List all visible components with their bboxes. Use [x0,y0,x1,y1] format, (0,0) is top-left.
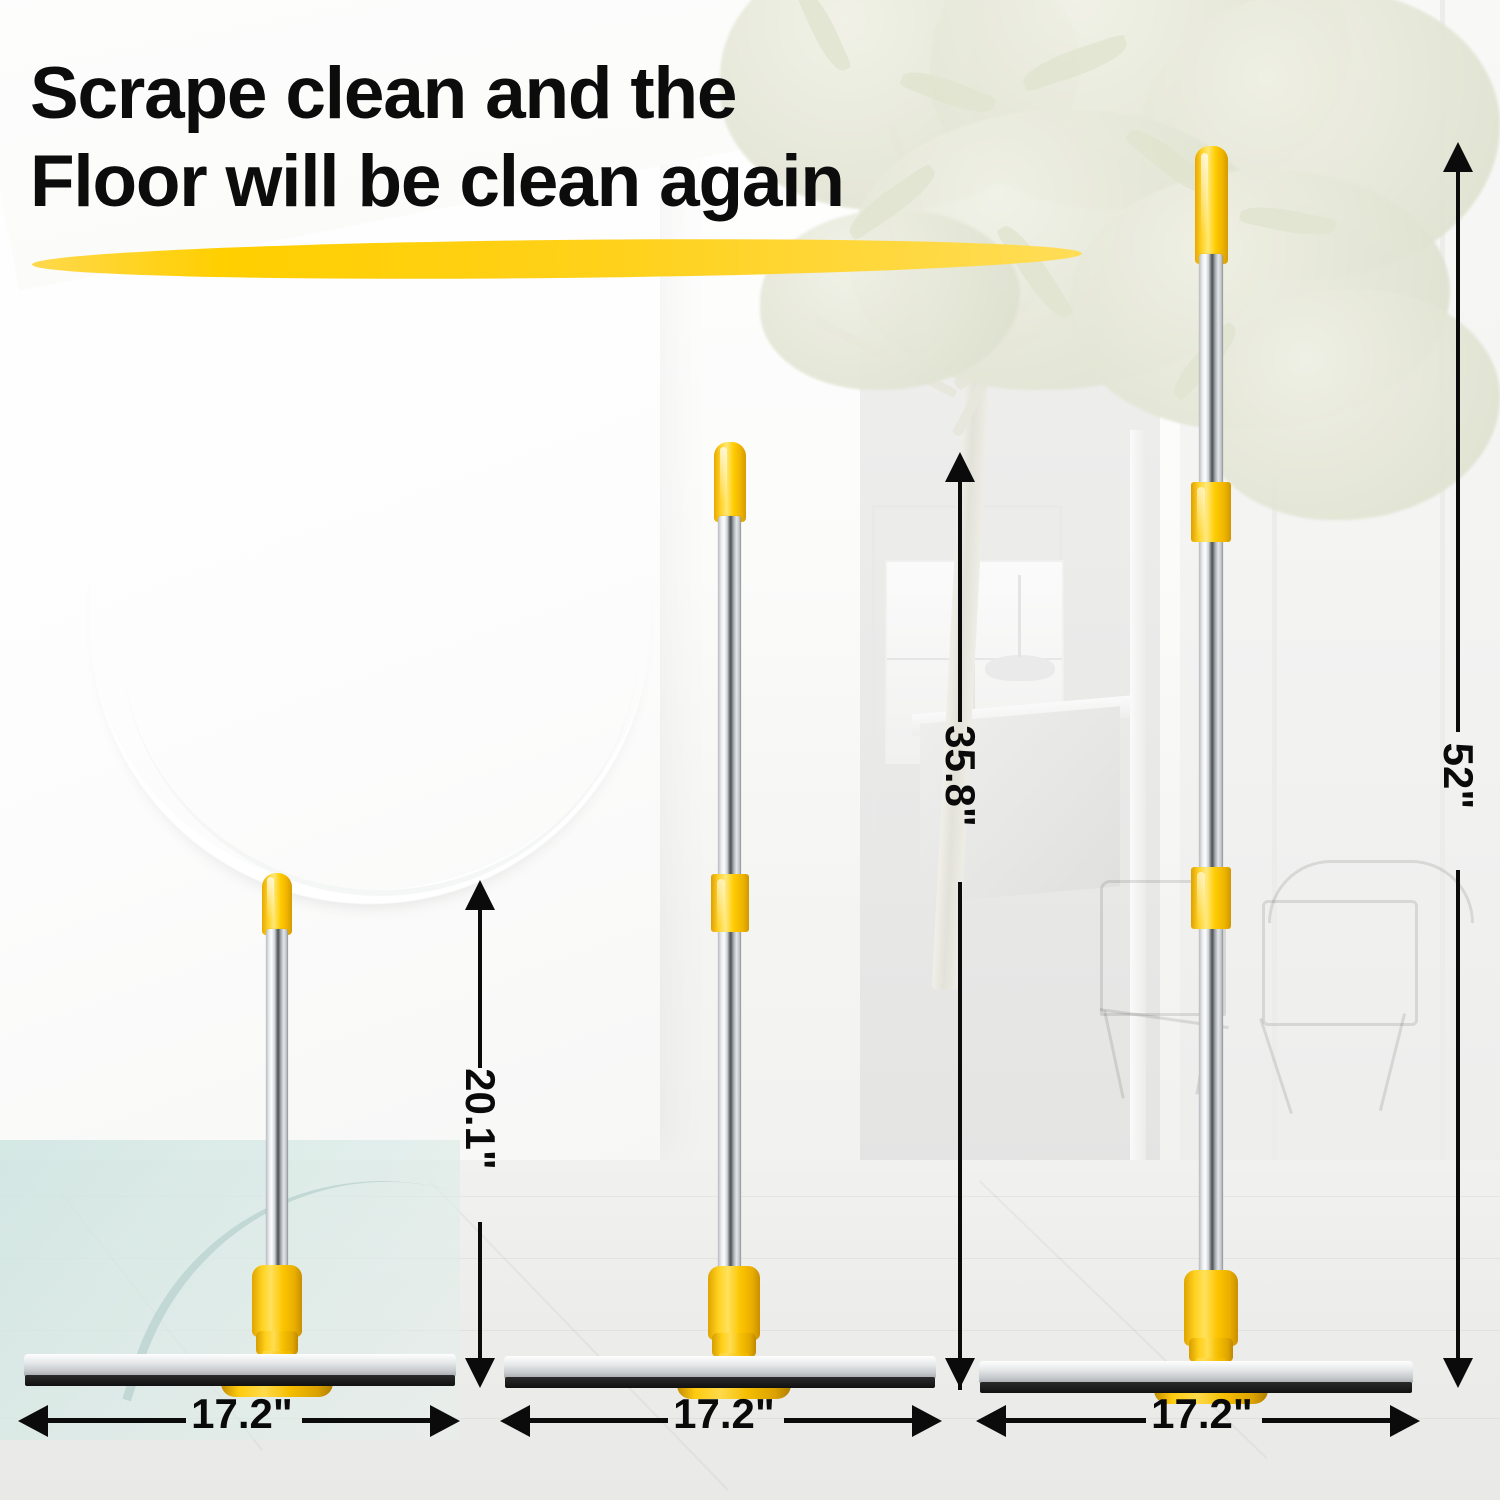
headline-line-2: Floor will be clean again [30,146,1120,218]
dimension-height-short: 20.1" [458,880,502,1390]
dimension-label-height-medium: 35.8" [936,716,984,836]
arrow-down-icon [465,1358,495,1388]
dimension-line-lower [1456,870,1460,1360]
arrow-up-icon [465,880,495,910]
dimension-line-left [1002,1418,1146,1423]
product-infographic: Scrape clean and the Floor will be clean… [0,0,1500,1500]
arrow-up-icon [945,452,975,482]
dimension-label-width-short: 17.2" [186,1390,298,1438]
arrow-right-icon [430,1405,460,1437]
squeegee-medium [500,438,940,1388]
dimension-line-right [1262,1418,1392,1423]
dimension-line-lower [958,882,962,1360]
pole-joint-collar-upper [1191,482,1231,542]
head-neck [1184,1270,1238,1346]
dimension-line-lower [478,1222,482,1360]
handle-cap [714,442,746,522]
handle-cap [1195,146,1228,264]
head-neck [708,1266,760,1340]
squeegee-short [20,865,460,1385]
headline-line-1: Scrape clean and the [30,58,1120,130]
arrow-down-icon [1443,1358,1473,1388]
dimension-width-medium: 17.2" [500,1398,942,1444]
dimension-line-upper [1456,170,1460,732]
dimension-line-upper [478,908,482,1068]
dimension-line-upper [958,480,962,722]
dimension-line-left [526,1418,668,1423]
telescopic-pole [1199,254,1223,1339]
dimension-width-long: 17.2" [976,1398,1420,1444]
pole-joint-collar [711,874,749,932]
dimension-label-height-short: 20.1" [456,1061,504,1177]
dimension-label-width-medium: 17.2" [668,1390,780,1438]
squeegee-rubber-blade [505,1377,935,1388]
head-neck [252,1265,302,1337]
dimension-width-short: 17.2" [18,1398,460,1444]
dimension-height-long: 52" [1436,142,1480,1392]
arrow-right-icon [1390,1405,1420,1437]
dimension-label-width-long: 17.2" [1146,1390,1258,1438]
arrow-down-icon [945,1358,975,1388]
handle-cap [262,873,292,935]
dimension-height-medium: 35.8" [938,452,982,1390]
headline-block: Scrape clean and the Floor will be clean… [30,58,1120,219]
dimension-label-height-long: 52" [1434,724,1482,828]
pole-joint-collar-lower [1191,867,1231,929]
squeegee-long [975,142,1420,1392]
arrow-up-icon [1443,142,1473,172]
dimension-line-right [784,1418,914,1423]
squeegee-rubber-blade [25,1375,455,1386]
arrow-right-icon [912,1405,942,1437]
dimension-line-right [302,1418,432,1423]
dimension-line-left [44,1418,186,1423]
